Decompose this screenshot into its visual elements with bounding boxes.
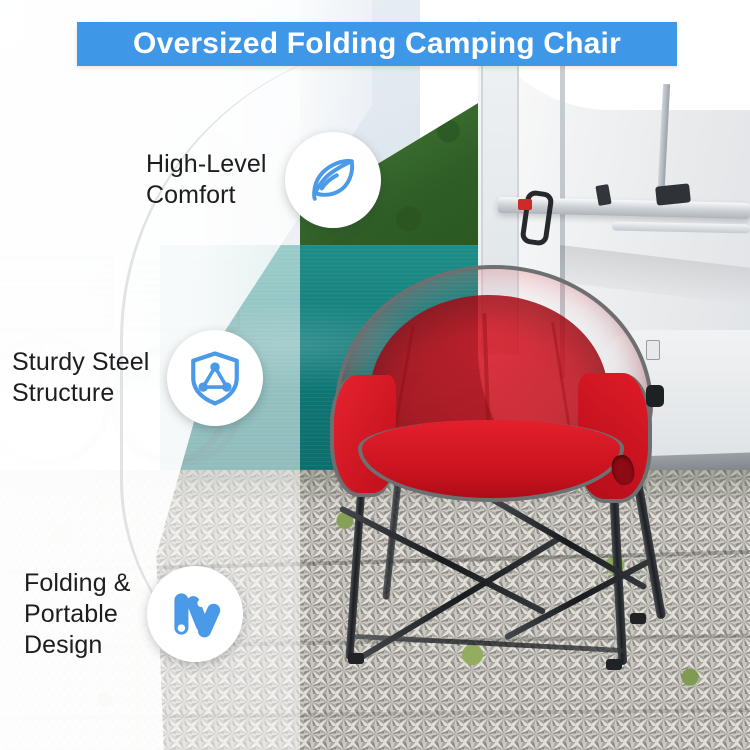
- page-title: Oversized Folding Camping Chair: [133, 27, 621, 61]
- feature-label-steel: Sturdy Steel Structure: [12, 347, 149, 409]
- feature-badge-comfort: [285, 132, 381, 228]
- feature-callout-steel: Sturdy Steel Structure: [12, 330, 263, 426]
- chair-bottom-rail: [354, 634, 624, 653]
- title-banner: Oversized Folding Camping Chair: [77, 22, 677, 66]
- chair-foot: [606, 659, 622, 670]
- chair-brand-tag: [646, 340, 660, 360]
- chair-foot: [630, 613, 646, 624]
- folding-hinge-icon: [165, 584, 225, 644]
- chair-hinge-knob: [646, 385, 664, 407]
- camping-chair: [330, 255, 670, 675]
- feature-badge-steel: [167, 330, 263, 426]
- feature-label-comfort: High-Level Comfort: [146, 149, 267, 211]
- feature-callout-folding: Folding & Portable Design: [24, 566, 243, 662]
- product-marketing-image: Oversized Folding Camping Chair High-Lev…: [0, 0, 750, 750]
- chair-foot: [348, 653, 364, 664]
- leaf-icon: [303, 150, 363, 210]
- chair-leg-front-left: [345, 470, 366, 660]
- feature-label-folding: Folding & Portable Design: [24, 568, 131, 661]
- shield-icon: [186, 349, 244, 407]
- rv-rail-clamp: [655, 183, 691, 205]
- feature-badge-folding: [147, 566, 243, 662]
- feature-callout-comfort: High-Level Comfort: [146, 132, 381, 228]
